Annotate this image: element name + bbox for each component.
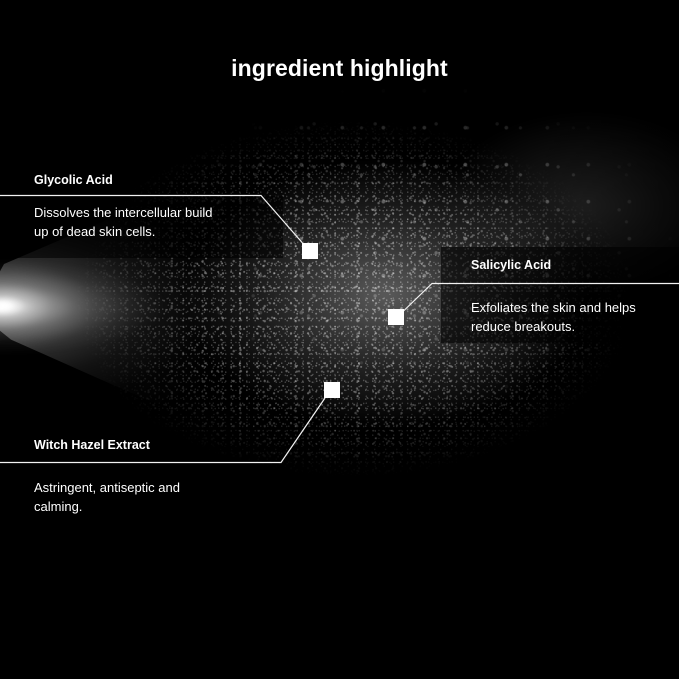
ingredient-highlight-graphic: ingredient highlight Glycolic Acid Disso… bbox=[0, 0, 679, 679]
glycolic-acid-marker bbox=[302, 243, 318, 259]
witch-hazel-extract-title: Witch Hazel Extract bbox=[34, 438, 150, 452]
witch-hazel-extract-rule bbox=[0, 462, 281, 463]
witch-hazel-extract-marker bbox=[324, 382, 340, 398]
spray-core-beam bbox=[0, 232, 400, 382]
salicylic-acid-rule bbox=[441, 283, 679, 284]
salicylic-acid-marker bbox=[388, 309, 404, 325]
spray-photo-background bbox=[0, 0, 679, 679]
salicylic-acid-title: Salicylic Acid bbox=[471, 258, 551, 272]
glycolic-acid-title: Glycolic Acid bbox=[34, 173, 113, 187]
spray-nozzle-hotspot bbox=[0, 292, 40, 320]
salicylic-acid-body: Exfoliates the skin and helps reduce bre… bbox=[471, 298, 676, 336]
witch-hazel-extract-body: Astringent, antiseptic and calming. bbox=[34, 478, 284, 516]
glycolic-acid-rule bbox=[0, 195, 261, 196]
page-title: ingredient highlight bbox=[0, 55, 679, 82]
glycolic-acid-body: Dissolves the intercellular build up of … bbox=[34, 203, 284, 241]
